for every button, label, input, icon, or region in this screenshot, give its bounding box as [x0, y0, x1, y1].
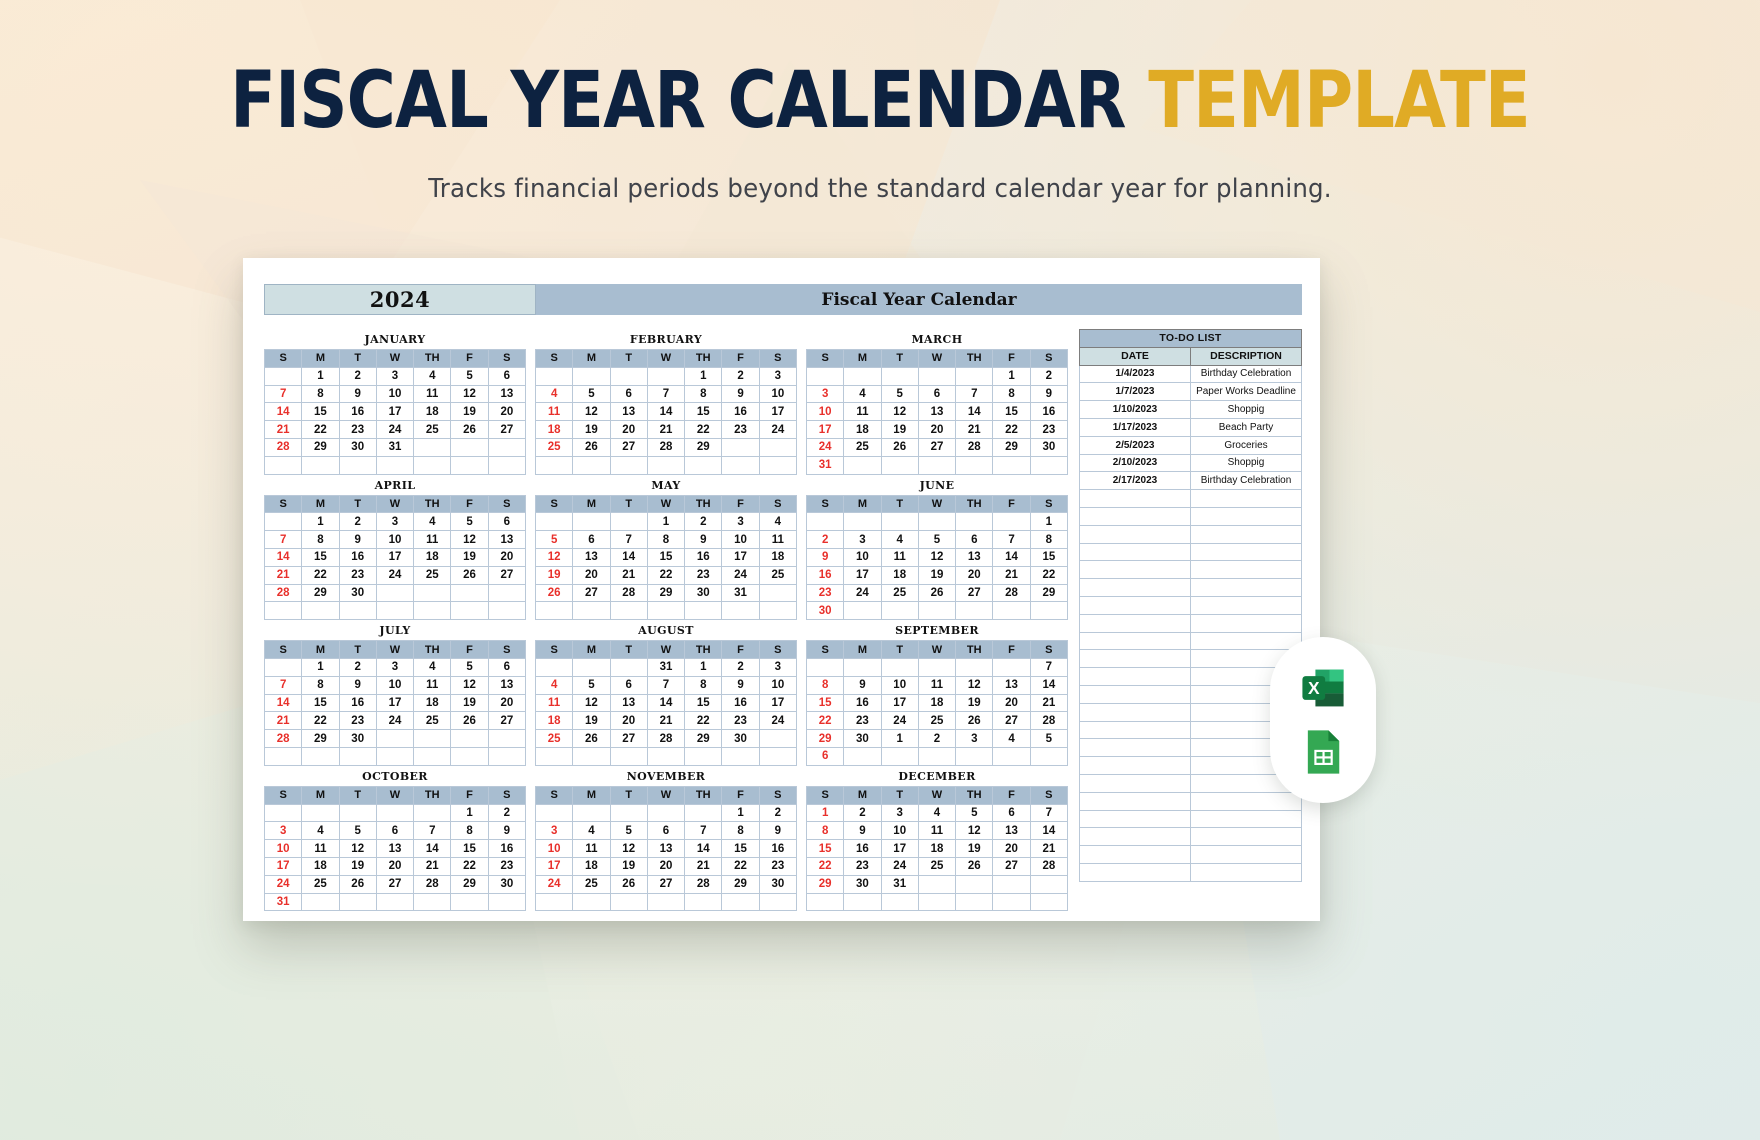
day-cell[interactable]: 29 [685, 438, 722, 456]
day-cell[interactable]: 26 [451, 712, 488, 730]
day-cell-empty[interactable] [376, 456, 413, 474]
day-cell[interactable]: 27 [376, 875, 413, 893]
day-cell[interactable]: 21 [647, 421, 684, 439]
day-cell-empty[interactable] [451, 602, 488, 620]
day-cell-empty[interactable] [918, 893, 955, 911]
day-cell[interactable]: 19 [451, 694, 488, 712]
day-cell[interactable]: 15 [993, 403, 1030, 421]
day-cell[interactable]: 3 [759, 658, 796, 676]
day-cell[interactable]: 30 [722, 730, 759, 748]
day-cell[interactable]: 28 [1030, 857, 1067, 875]
day-cell-empty[interactable] [414, 584, 451, 602]
day-cell-empty[interactable] [685, 602, 722, 620]
day-cell-empty[interactable] [488, 747, 525, 765]
day-cell[interactable]: 21 [685, 857, 722, 875]
day-cell[interactable]: 2 [488, 804, 525, 822]
day-cell-empty[interactable] [414, 747, 451, 765]
day-cell-empty[interactable] [573, 602, 610, 620]
day-cell[interactable]: 13 [610, 694, 647, 712]
day-cell[interactable]: 30 [1030, 438, 1067, 456]
day-cell[interactable]: 13 [488, 385, 525, 403]
day-cell[interactable]: 3 [881, 804, 918, 822]
day-cell[interactable]: 11 [759, 531, 796, 549]
day-cell[interactable]: 13 [993, 676, 1030, 694]
day-cell-empty[interactable] [573, 456, 610, 474]
day-cell[interactable]: 19 [536, 566, 573, 584]
day-cell[interactable]: 30 [339, 730, 376, 748]
day-cell[interactable]: 27 [488, 421, 525, 439]
day-cell[interactable]: 7 [685, 822, 722, 840]
day-cell[interactable]: 25 [918, 857, 955, 875]
day-cell[interactable]: 19 [610, 857, 647, 875]
day-cell[interactable]: 13 [610, 403, 647, 421]
day-cell[interactable]: 15 [302, 694, 339, 712]
day-cell[interactable]: 13 [918, 403, 955, 421]
day-cell[interactable]: 3 [722, 513, 759, 531]
day-cell[interactable]: 10 [807, 403, 844, 421]
day-cell[interactable]: 14 [265, 403, 302, 421]
todo-description-cell-empty[interactable] [1191, 863, 1302, 881]
todo-description-cell-empty[interactable] [1191, 846, 1302, 864]
todo-description-cell-empty[interactable] [1191, 490, 1302, 508]
day-cell[interactable]: 28 [265, 438, 302, 456]
day-cell[interactable]: 4 [844, 385, 881, 403]
day-cell[interactable]: 12 [451, 531, 488, 549]
day-cell[interactable]: 10 [536, 840, 573, 858]
day-cell[interactable]: 18 [918, 694, 955, 712]
day-cell-empty[interactable] [573, 658, 610, 676]
day-cell-empty[interactable] [759, 747, 796, 765]
google-sheets-icon[interactable] [1297, 726, 1349, 778]
day-cell-empty[interactable] [647, 602, 684, 620]
day-cell-empty[interactable] [722, 456, 759, 474]
day-cell-empty[interactable] [339, 747, 376, 765]
day-cell[interactable]: 17 [759, 694, 796, 712]
day-cell[interactable]: 18 [414, 548, 451, 566]
day-cell-empty[interactable] [536, 658, 573, 676]
day-cell-empty[interactable] [265, 658, 302, 676]
day-cell[interactable]: 6 [918, 385, 955, 403]
todo-description-cell-empty[interactable] [1191, 632, 1302, 650]
day-cell[interactable]: 6 [647, 822, 684, 840]
day-cell[interactable]: 11 [414, 385, 451, 403]
todo-date-cell-empty[interactable] [1080, 774, 1191, 792]
day-cell[interactable]: 15 [722, 840, 759, 858]
day-cell[interactable]: 8 [302, 676, 339, 694]
day-cell[interactable]: 16 [1030, 403, 1067, 421]
day-cell[interactable]: 2 [807, 531, 844, 549]
day-cell[interactable]: 13 [993, 822, 1030, 840]
day-cell[interactable]: 29 [722, 875, 759, 893]
todo-date-cell-empty[interactable] [1080, 721, 1191, 739]
day-cell-empty[interactable] [881, 602, 918, 620]
day-cell[interactable]: 18 [302, 857, 339, 875]
day-cell-empty[interactable] [722, 602, 759, 620]
day-cell[interactable]: 12 [573, 403, 610, 421]
day-cell-empty[interactable] [759, 893, 796, 911]
day-cell-empty[interactable] [956, 602, 993, 620]
day-cell[interactable]: 27 [610, 438, 647, 456]
todo-date-cell-empty[interactable] [1080, 632, 1191, 650]
day-cell[interactable]: 4 [759, 513, 796, 531]
day-cell[interactable]: 15 [807, 840, 844, 858]
todo-date-cell-empty[interactable] [1080, 668, 1191, 686]
day-cell[interactable]: 11 [414, 676, 451, 694]
day-cell[interactable]: 25 [536, 438, 573, 456]
day-cell-empty[interactable] [1030, 875, 1067, 893]
day-cell-empty[interactable] [536, 456, 573, 474]
day-cell[interactable]: 9 [685, 531, 722, 549]
day-cell[interactable]: 28 [993, 584, 1030, 602]
day-cell[interactable]: 27 [647, 875, 684, 893]
day-cell[interactable]: 18 [536, 712, 573, 730]
day-cell-empty[interactable] [647, 804, 684, 822]
day-cell[interactable]: 21 [265, 712, 302, 730]
day-cell-empty[interactable] [881, 893, 918, 911]
day-cell[interactable]: 18 [536, 421, 573, 439]
day-cell[interactable]: 1 [685, 658, 722, 676]
day-cell[interactable]: 20 [376, 857, 413, 875]
day-cell[interactable]: 11 [844, 403, 881, 421]
day-cell[interactable]: 26 [536, 584, 573, 602]
day-cell[interactable]: 20 [610, 712, 647, 730]
day-cell-empty[interactable] [414, 602, 451, 620]
day-cell-empty[interactable] [536, 747, 573, 765]
day-cell[interactable]: 10 [376, 385, 413, 403]
day-cell[interactable]: 8 [685, 676, 722, 694]
day-cell-empty[interactable] [302, 747, 339, 765]
day-cell[interactable]: 22 [1030, 566, 1067, 584]
day-cell[interactable]: 1 [1030, 513, 1067, 531]
day-cell[interactable]: 23 [759, 857, 796, 875]
day-cell[interactable]: 25 [414, 566, 451, 584]
todo-description-cell[interactable]: Shoppig [1191, 454, 1302, 472]
day-cell[interactable]: 6 [807, 747, 844, 765]
day-cell[interactable]: 7 [993, 531, 1030, 549]
todo-date-cell-empty[interactable] [1080, 685, 1191, 703]
day-cell-empty[interactable] [451, 747, 488, 765]
day-cell[interactable]: 20 [488, 548, 525, 566]
day-cell[interactable]: 20 [956, 566, 993, 584]
day-cell[interactable]: 18 [918, 840, 955, 858]
day-cell[interactable]: 10 [759, 676, 796, 694]
day-cell[interactable]: 2 [339, 658, 376, 676]
day-cell[interactable]: 11 [918, 822, 955, 840]
day-cell[interactable]: 26 [956, 857, 993, 875]
day-cell[interactable]: 8 [807, 822, 844, 840]
day-cell[interactable]: 2 [1030, 367, 1067, 385]
day-cell[interactable]: 25 [759, 566, 796, 584]
day-cell[interactable]: 11 [536, 403, 573, 421]
day-cell-empty[interactable] [573, 747, 610, 765]
day-cell[interactable]: 31 [722, 584, 759, 602]
day-cell[interactable]: 13 [573, 548, 610, 566]
day-cell[interactable]: 21 [956, 421, 993, 439]
day-cell-empty[interactable] [993, 747, 1030, 765]
todo-date-cell-empty[interactable] [1080, 828, 1191, 846]
day-cell-empty[interactable] [918, 658, 955, 676]
day-cell[interactable]: 4 [414, 658, 451, 676]
day-cell[interactable]: 4 [414, 367, 451, 385]
day-cell[interactable]: 16 [844, 840, 881, 858]
day-cell[interactable]: 10 [881, 676, 918, 694]
day-cell[interactable]: 25 [414, 712, 451, 730]
day-cell[interactable]: 22 [302, 566, 339, 584]
day-cell-empty[interactable] [536, 367, 573, 385]
day-cell[interactable]: 16 [844, 694, 881, 712]
day-cell[interactable]: 7 [647, 676, 684, 694]
day-cell[interactable]: 16 [722, 694, 759, 712]
day-cell[interactable]: 10 [376, 676, 413, 694]
day-cell[interactable]: 18 [844, 421, 881, 439]
day-cell[interactable]: 17 [376, 694, 413, 712]
day-cell[interactable]: 3 [759, 367, 796, 385]
day-cell[interactable]: 3 [844, 531, 881, 549]
day-cell-empty[interactable] [265, 367, 302, 385]
day-cell[interactable]: 9 [759, 822, 796, 840]
day-cell[interactable]: 3 [956, 730, 993, 748]
day-cell[interactable]: 31 [376, 438, 413, 456]
day-cell-empty[interactable] [993, 456, 1030, 474]
day-cell[interactable]: 9 [844, 822, 881, 840]
day-cell[interactable]: 7 [265, 531, 302, 549]
day-cell[interactable]: 5 [451, 367, 488, 385]
day-cell[interactable]: 7 [414, 822, 451, 840]
day-cell-empty[interactable] [451, 456, 488, 474]
todo-date-cell-empty[interactable] [1080, 614, 1191, 632]
day-cell[interactable]: 14 [647, 403, 684, 421]
day-cell[interactable]: 22 [647, 566, 684, 584]
day-cell[interactable]: 25 [918, 712, 955, 730]
day-cell-empty[interactable] [536, 602, 573, 620]
day-cell[interactable]: 14 [956, 403, 993, 421]
day-cell[interactable]: 8 [1030, 531, 1067, 549]
day-cell-empty[interactable] [302, 893, 339, 911]
day-cell[interactable]: 14 [1030, 822, 1067, 840]
day-cell-empty[interactable] [265, 513, 302, 531]
day-cell[interactable]: 14 [610, 548, 647, 566]
day-cell[interactable]: 16 [339, 548, 376, 566]
todo-description-cell[interactable]: Groceries [1191, 436, 1302, 454]
day-cell-empty[interactable] [956, 658, 993, 676]
day-cell-empty[interactable] [339, 456, 376, 474]
day-cell-empty[interactable] [956, 367, 993, 385]
day-cell-empty[interactable] [414, 893, 451, 911]
day-cell-empty[interactable] [685, 804, 722, 822]
day-cell[interactable]: 31 [881, 875, 918, 893]
day-cell[interactable]: 9 [844, 676, 881, 694]
day-cell-empty[interactable] [918, 747, 955, 765]
day-cell-empty[interactable] [993, 513, 1030, 531]
day-cell[interactable]: 23 [807, 584, 844, 602]
day-cell-empty[interactable] [844, 747, 881, 765]
day-cell[interactable]: 13 [488, 531, 525, 549]
day-cell-empty[interactable] [1030, 747, 1067, 765]
day-cell[interactable]: 25 [573, 875, 610, 893]
day-cell[interactable]: 2 [844, 804, 881, 822]
day-cell[interactable]: 20 [647, 857, 684, 875]
day-cell[interactable]: 11 [302, 840, 339, 858]
day-cell[interactable]: 16 [339, 694, 376, 712]
day-cell[interactable]: 7 [265, 676, 302, 694]
day-cell[interactable]: 4 [536, 676, 573, 694]
day-cell-empty[interactable] [376, 804, 413, 822]
day-cell[interactable]: 21 [647, 712, 684, 730]
day-cell-empty[interactable] [844, 513, 881, 531]
todo-description-cell-empty[interactable] [1191, 579, 1302, 597]
day-cell[interactable]: 2 [918, 730, 955, 748]
day-cell[interactable]: 11 [918, 676, 955, 694]
day-cell[interactable]: 14 [265, 694, 302, 712]
day-cell-empty[interactable] [647, 893, 684, 911]
day-cell[interactable]: 24 [759, 421, 796, 439]
day-cell-empty[interactable] [610, 513, 647, 531]
day-cell[interactable]: 8 [302, 531, 339, 549]
day-cell-empty[interactable] [685, 747, 722, 765]
day-cell-empty[interactable] [1030, 893, 1067, 911]
day-cell[interactable]: 24 [807, 438, 844, 456]
day-cell[interactable]: 18 [414, 403, 451, 421]
todo-date-cell[interactable]: 1/10/2023 [1080, 401, 1191, 419]
day-cell-empty[interactable] [573, 893, 610, 911]
day-cell-empty[interactable] [573, 804, 610, 822]
day-cell[interactable]: 9 [1030, 385, 1067, 403]
day-cell-empty[interactable] [844, 658, 881, 676]
excel-icon[interactable]: X [1297, 662, 1349, 714]
day-cell[interactable]: 1 [807, 804, 844, 822]
todo-description-cell[interactable]: Beach Party [1191, 418, 1302, 436]
day-cell-empty[interactable] [956, 875, 993, 893]
day-cell[interactable]: 9 [339, 676, 376, 694]
day-cell[interactable]: 18 [881, 566, 918, 584]
day-cell[interactable]: 4 [414, 513, 451, 531]
day-cell-empty[interactable] [302, 456, 339, 474]
day-cell[interactable]: 25 [881, 584, 918, 602]
day-cell-empty[interactable] [759, 584, 796, 602]
day-cell-empty[interactable] [376, 602, 413, 620]
day-cell[interactable]: 3 [376, 513, 413, 531]
day-cell[interactable]: 19 [451, 548, 488, 566]
day-cell[interactable]: 20 [573, 566, 610, 584]
day-cell[interactable]: 23 [722, 421, 759, 439]
day-cell[interactable]: 5 [956, 804, 993, 822]
day-cell-empty[interactable] [722, 893, 759, 911]
day-cell[interactable]: 12 [536, 548, 573, 566]
day-cell[interactable]: 22 [302, 712, 339, 730]
day-cell[interactable]: 22 [685, 421, 722, 439]
day-cell[interactable]: 23 [339, 712, 376, 730]
day-cell[interactable]: 26 [573, 438, 610, 456]
day-cell[interactable]: 11 [414, 531, 451, 549]
day-cell[interactable]: 30 [759, 875, 796, 893]
day-cell[interactable]: 28 [956, 438, 993, 456]
todo-date-cell-empty[interactable] [1080, 507, 1191, 525]
day-cell[interactable]: 29 [1030, 584, 1067, 602]
day-cell[interactable]: 19 [339, 857, 376, 875]
day-cell[interactable]: 26 [451, 566, 488, 584]
day-cell[interactable]: 7 [956, 385, 993, 403]
day-cell[interactable]: 17 [536, 857, 573, 875]
day-cell[interactable]: 27 [993, 712, 1030, 730]
todo-date-cell-empty[interactable] [1080, 863, 1191, 881]
day-cell-empty[interactable] [536, 893, 573, 911]
day-cell[interactable]: 28 [610, 584, 647, 602]
day-cell[interactable]: 12 [573, 694, 610, 712]
day-cell[interactable]: 17 [722, 548, 759, 566]
todo-date-cell[interactable]: 2/5/2023 [1080, 436, 1191, 454]
day-cell[interactable]: 21 [265, 421, 302, 439]
day-cell-empty[interactable] [759, 456, 796, 474]
day-cell-empty[interactable] [844, 367, 881, 385]
day-cell[interactable]: 28 [685, 875, 722, 893]
day-cell[interactable]: 6 [488, 513, 525, 531]
todo-date-cell-empty[interactable] [1080, 792, 1191, 810]
day-cell[interactable]: 16 [722, 403, 759, 421]
day-cell[interactable]: 27 [610, 730, 647, 748]
day-cell[interactable]: 8 [647, 531, 684, 549]
day-cell[interactable]: 22 [807, 857, 844, 875]
day-cell[interactable]: 13 [956, 548, 993, 566]
day-cell[interactable]: 29 [807, 875, 844, 893]
day-cell[interactable]: 7 [265, 385, 302, 403]
day-cell-empty[interactable] [685, 456, 722, 474]
day-cell[interactable]: 29 [647, 584, 684, 602]
day-cell[interactable]: 21 [414, 857, 451, 875]
day-cell[interactable]: 3 [536, 822, 573, 840]
day-cell-empty[interactable] [488, 730, 525, 748]
day-cell[interactable]: 18 [759, 548, 796, 566]
day-cell[interactable]: 5 [918, 531, 955, 549]
todo-date-cell-empty[interactable] [1080, 650, 1191, 668]
day-cell-empty[interactable] [956, 893, 993, 911]
day-cell[interactable]: 27 [993, 857, 1030, 875]
day-cell[interactable]: 29 [302, 438, 339, 456]
day-cell[interactable]: 17 [376, 548, 413, 566]
day-cell[interactable]: 19 [573, 712, 610, 730]
day-cell-empty[interactable] [488, 584, 525, 602]
todo-date-cell[interactable]: 1/7/2023 [1080, 383, 1191, 401]
day-cell-empty[interactable] [647, 747, 684, 765]
day-cell-empty[interactable] [488, 438, 525, 456]
day-cell-empty[interactable] [488, 602, 525, 620]
day-cell[interactable]: 29 [685, 730, 722, 748]
day-cell[interactable]: 8 [451, 822, 488, 840]
day-cell[interactable]: 15 [807, 694, 844, 712]
day-cell-empty[interactable] [918, 602, 955, 620]
day-cell[interactable]: 15 [302, 548, 339, 566]
day-cell[interactable]: 8 [302, 385, 339, 403]
day-cell[interactable]: 7 [610, 531, 647, 549]
day-cell-empty[interactable] [376, 584, 413, 602]
day-cell[interactable]: 12 [451, 385, 488, 403]
day-cell[interactable]: 27 [918, 438, 955, 456]
day-cell[interactable]: 26 [918, 584, 955, 602]
day-cell[interactable]: 9 [339, 385, 376, 403]
day-cell-empty[interactable] [265, 602, 302, 620]
todo-description-cell-empty[interactable] [1191, 525, 1302, 543]
day-cell[interactable]: 27 [488, 566, 525, 584]
todo-description-cell-empty[interactable] [1191, 596, 1302, 614]
day-cell[interactable]: 29 [993, 438, 1030, 456]
day-cell[interactable]: 6 [488, 658, 525, 676]
day-cell-empty[interactable] [881, 513, 918, 531]
day-cell[interactable]: 25 [302, 875, 339, 893]
todo-date-cell-empty[interactable] [1080, 490, 1191, 508]
day-cell-empty[interactable] [918, 513, 955, 531]
day-cell-empty[interactable] [610, 367, 647, 385]
day-cell[interactable]: 14 [414, 840, 451, 858]
day-cell[interactable]: 17 [881, 694, 918, 712]
